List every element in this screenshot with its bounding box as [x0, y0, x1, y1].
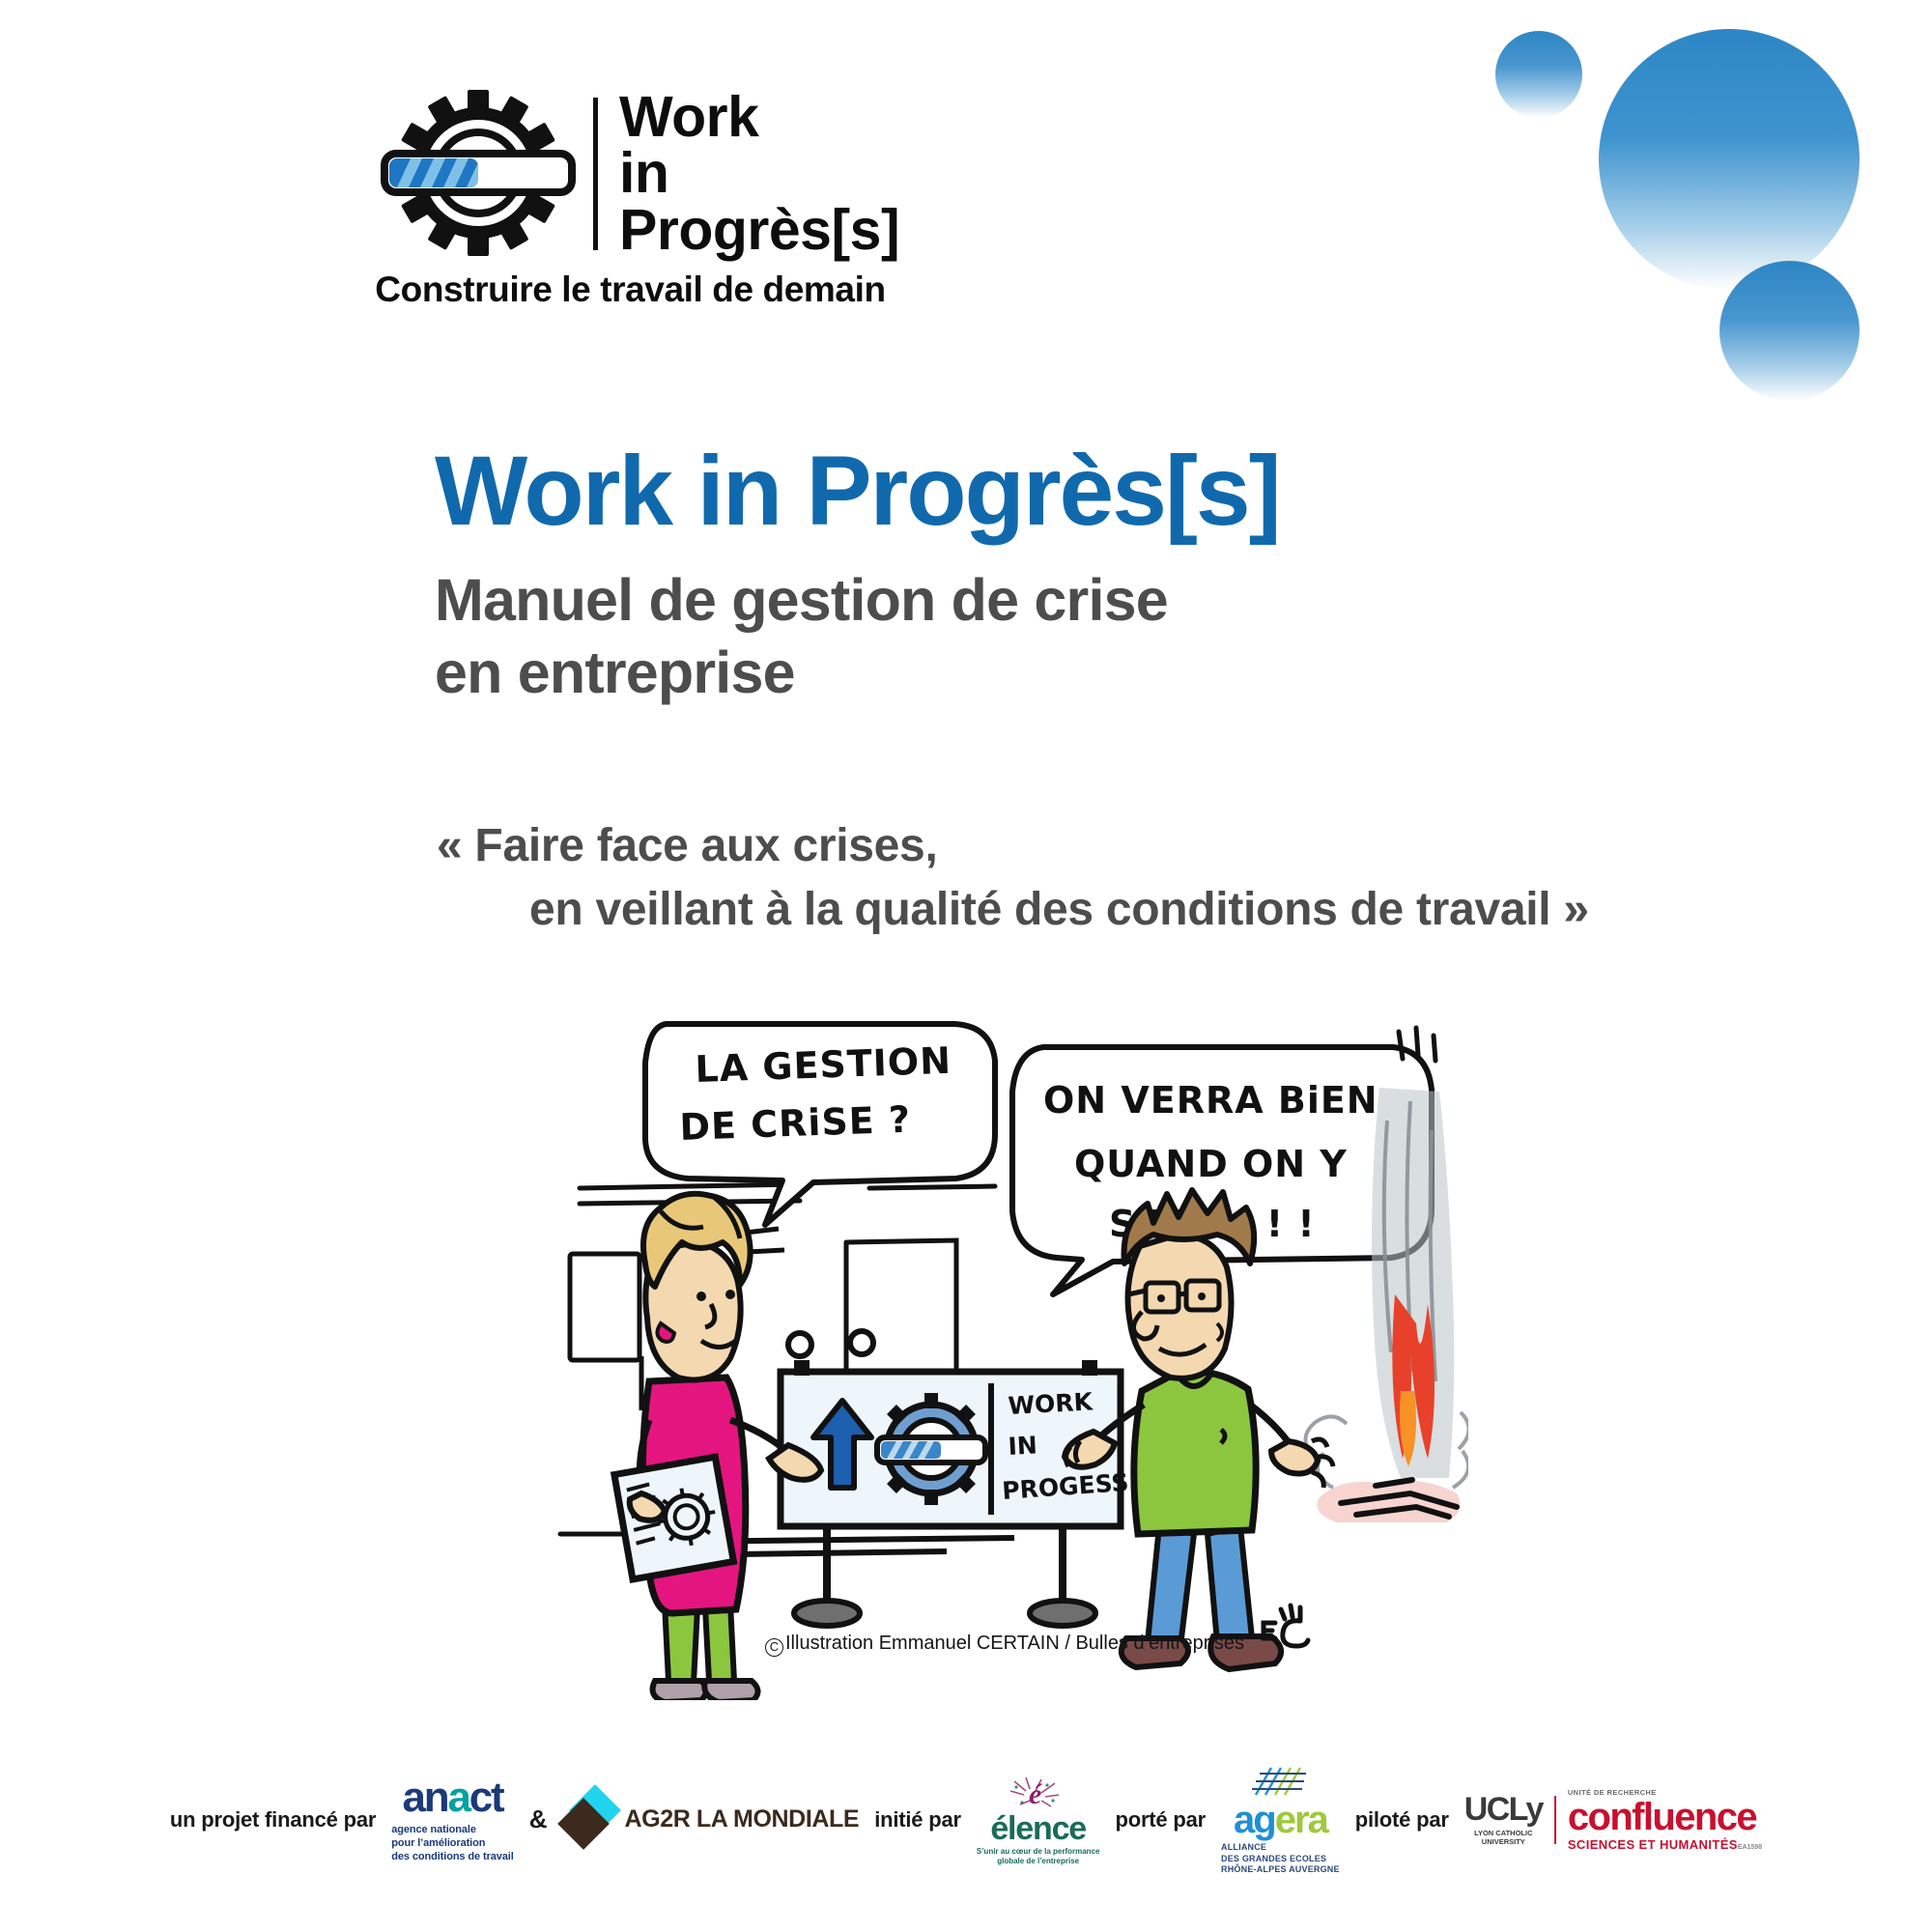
bubble-left-line2: DE CRiSE ? [679, 1098, 912, 1149]
bubble-medium-icon [1719, 261, 1860, 401]
page-title: Work in Progrès[s] [435, 440, 1690, 543]
page-subtitle: Manuel de gestion de crise en entreprise [435, 564, 1690, 708]
ag2r-diamond-icon [563, 1794, 615, 1846]
agera-bars-icon [1246, 1764, 1314, 1797]
footer-label-piloted: piloté par [1355, 1807, 1449, 1833]
confluence-tagline: SCIENCES ET HUMANITÉSEA1598 [1568, 1838, 1762, 1851]
anact-ct: ct [469, 1774, 503, 1821]
ucly-wordmark: UCLy [1464, 1793, 1543, 1826]
footer-ampersand: & [529, 1804, 548, 1834]
confluence-code: EA1598 [1738, 1844, 1762, 1851]
cover-illustration: LA GESTION DE CRiSE ? ON VERRA BiEN QUAN… [541, 1005, 1468, 1700]
elence-subtitle: S’unir au cœur de la performance globale… [977, 1847, 1100, 1866]
agera-ag: ag [1234, 1799, 1275, 1841]
footer-label-carried: porté par [1115, 1807, 1206, 1833]
anact-logo: anact agence nationale pour l’améliorati… [391, 1776, 513, 1863]
agera-e: e [1275, 1799, 1294, 1841]
sign-text-line1: WORK [1008, 1387, 1094, 1420]
footer-label-initiated: initié par [874, 1807, 961, 1833]
bubble-left-line1: LA GESTION [695, 1039, 952, 1091]
quote-line-1: « Faire face aux crises, [437, 814, 1731, 878]
brand-word-line3: Progrès[s] [619, 202, 899, 258]
agera-logo: agera ALLIANCE DES GRANDES ECOLES RHÔNE-… [1221, 1764, 1340, 1876]
agera-sub-line2: DES GRANDES ECOLES [1221, 1854, 1340, 1865]
illustration-credit: CIllustration Emmanuel CERTAIN / Bulles … [541, 1633, 1468, 1657]
ag2r-wordmark: AG2R LA MONDIALE [625, 1805, 860, 1833]
anact-an: an [402, 1774, 447, 1821]
title-block: Work in Progrès[s] Manuel de gestion de … [435, 440, 1690, 708]
brand-logo: Work in Progrès[s] Construire le travail… [367, 89, 889, 310]
anact-sub-line2: pour l’amélioration [391, 1836, 513, 1850]
anact-subtitle: agence nationale pour l’amélioration des… [391, 1823, 513, 1863]
decorative-bubbles [1488, 0, 1932, 454]
confluence-divider [1554, 1796, 1556, 1844]
quote-line-2: en veillant à la qualité des conditions … [529, 878, 1731, 942]
agera-wordmark: agera [1221, 1801, 1340, 1839]
footer-partners: un projet financé par anact agence natio… [0, 1764, 1932, 1876]
anact-wordmark: anact [391, 1776, 513, 1819]
confluence-logo: UNITÉ DE RECHERCHE confluence SCIENCES E… [1568, 1789, 1762, 1851]
anact-sub-line3: des conditions de travail [391, 1850, 513, 1863]
elence-logo: é élence S’unir au cœur de la performanc… [977, 1774, 1100, 1866]
anact-sub-line1: agence nationale [391, 1823, 513, 1836]
quote-block: « Faire face aux crises, en veillant à l… [437, 814, 1731, 942]
brand-word-line1: Work [619, 89, 899, 145]
illustration-credit-text: Illustration Emmanuel CERTAIN / Bulles d… [785, 1633, 1244, 1654]
brand-word-line2: in [619, 145, 899, 201]
anact-a: a [447, 1774, 469, 1821]
ucly-subtitle: LYON CATHOLIC UNIVERSITY [1464, 1829, 1543, 1848]
ucly-sub-line2: UNIVERSITY [1464, 1837, 1543, 1847]
elence-burst-icon: é [1003, 1774, 1074, 1812]
brand-logo-row: Work in Progrès[s] [367, 89, 889, 258]
agera-ra: ra [1294, 1799, 1327, 1841]
ucly-logo: UCLy LYON CATHOLIC UNIVERSITY [1464, 1793, 1543, 1848]
agera-subtitle: ALLIANCE DES GRANDES ECOLES RHÔNE-ALPES … [1221, 1842, 1340, 1876]
confluence-tagline-text: SCIENCES ET HUMANITÉS [1568, 1837, 1738, 1852]
agera-sub-line1: ALLIANCE [1221, 1842, 1340, 1854]
bubble-right-line1: ON VERRA BiEN [1043, 1079, 1378, 1122]
svg-text:é: é [1029, 1778, 1043, 1810]
ucly-sub-line1: LYON CATHOLIC [1464, 1829, 1543, 1838]
elence-wordmark: élence [977, 1812, 1100, 1845]
confluence-wordmark: confluence [1568, 1798, 1762, 1836]
page-subtitle-line2: en entreprise [435, 637, 1690, 708]
elence-sub-line1: S’unir au cœur de la performance [977, 1847, 1100, 1857]
brand-divider [593, 98, 598, 250]
ucly-confluence-logo: UCLy LYON CATHOLIC UNIVERSITY UNITÉ DE R… [1464, 1789, 1762, 1851]
elence-sub-line2: globale de l’entreprise [977, 1857, 1100, 1866]
ag2r-logo: AG2R LA MONDIALE [563, 1794, 860, 1846]
page-subtitle-line1: Manuel de gestion de crise [435, 564, 1690, 636]
brand-tagline: Construire le travail de demain [367, 270, 894, 310]
sign-text-line2: IN [1008, 1431, 1038, 1461]
agera-sub-line3: RHÔNE-ALPES AUVERGNE [1221, 1864, 1340, 1876]
copyright-icon: C [765, 1638, 783, 1657]
brand-wordmark: Work in Progrès[s] [619, 89, 899, 258]
bubble-right-line2: QUAND ON Y [1074, 1143, 1348, 1185]
bubble-large-icon [1599, 29, 1860, 290]
footer-label-financed: un projet financé par [170, 1807, 376, 1833]
gear-progress-bar-icon [367, 89, 589, 258]
bubble-small-icon [1495, 31, 1582, 118]
